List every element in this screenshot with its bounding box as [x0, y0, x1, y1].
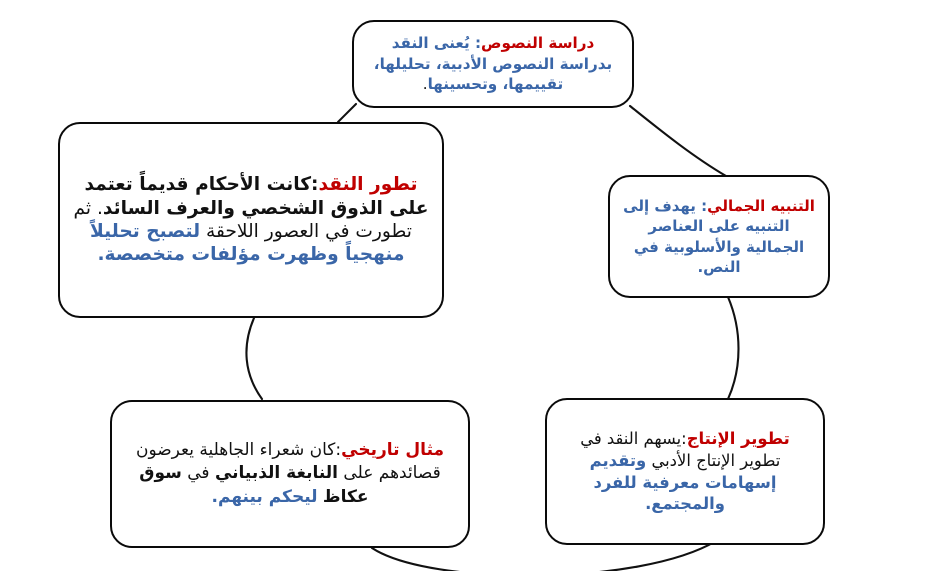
connector-aesthetic-to-production: [728, 297, 739, 399]
node-study-title: دراسة النصوص: [481, 34, 594, 52]
diagram-canvas: دراسة النصوص: يُعنى النقد بدراسة النصوص …: [0, 0, 936, 571]
node-example-text: مثال تاريخي:كان شعراء الجاهلية يعرضون قص…: [112, 435, 468, 512]
node-evolution-title: تطور النقد: [318, 174, 417, 195]
connector-study-to-evolution: [338, 104, 356, 122]
node-aesthetic-awareness[interactable]: التنبيه الجمالي: يهدف إلى التنبيه على ال…: [608, 175, 830, 298]
node-study-of-texts[interactable]: دراسة النصوص: يُعنى النقد بدراسة النصوص …: [352, 20, 634, 108]
node-study-of-texts-text: دراسة النصوص: يُعنى النقد بدراسة النصوص …: [354, 29, 632, 98]
node-aesthetic-text: التنبيه الجمالي: يهدف إلى التنبيه على ال…: [610, 192, 828, 282]
connector-study-to-aesthetic: [630, 106, 726, 176]
node-production-title: تطوير الإنتاج: [687, 429, 790, 448]
connector-example-to-evolution: [246, 318, 262, 399]
node-historical-example[interactable]: مثال تاريخي:كان شعراء الجاهلية يعرضون قص…: [110, 400, 470, 548]
node-aesthetic-title: التنبيه الجمالي: [707, 197, 815, 215]
node-evolution-text: تطور النقد:كانت الأحكام قديماً تعتمد على…: [60, 169, 442, 271]
node-example-person-name: النابغة الذبياني: [215, 463, 338, 483]
node-example-title: مثال تاريخي: [341, 440, 444, 460]
node-example-body-accent: ليحكم بينهم.: [212, 487, 318, 507]
node-example-body-regular-2: في: [182, 463, 215, 483]
node-development-of-production[interactable]: تطوير الإنتاج:يسهم النقد في تطوير الإنتا…: [545, 398, 825, 545]
node-evolution-of-criticism[interactable]: تطور النقد:كانت الأحكام قديماً تعتمد على…: [58, 122, 444, 318]
node-production-text: تطوير الإنتاج:يسهم النقد في تطوير الإنتا…: [547, 424, 823, 520]
